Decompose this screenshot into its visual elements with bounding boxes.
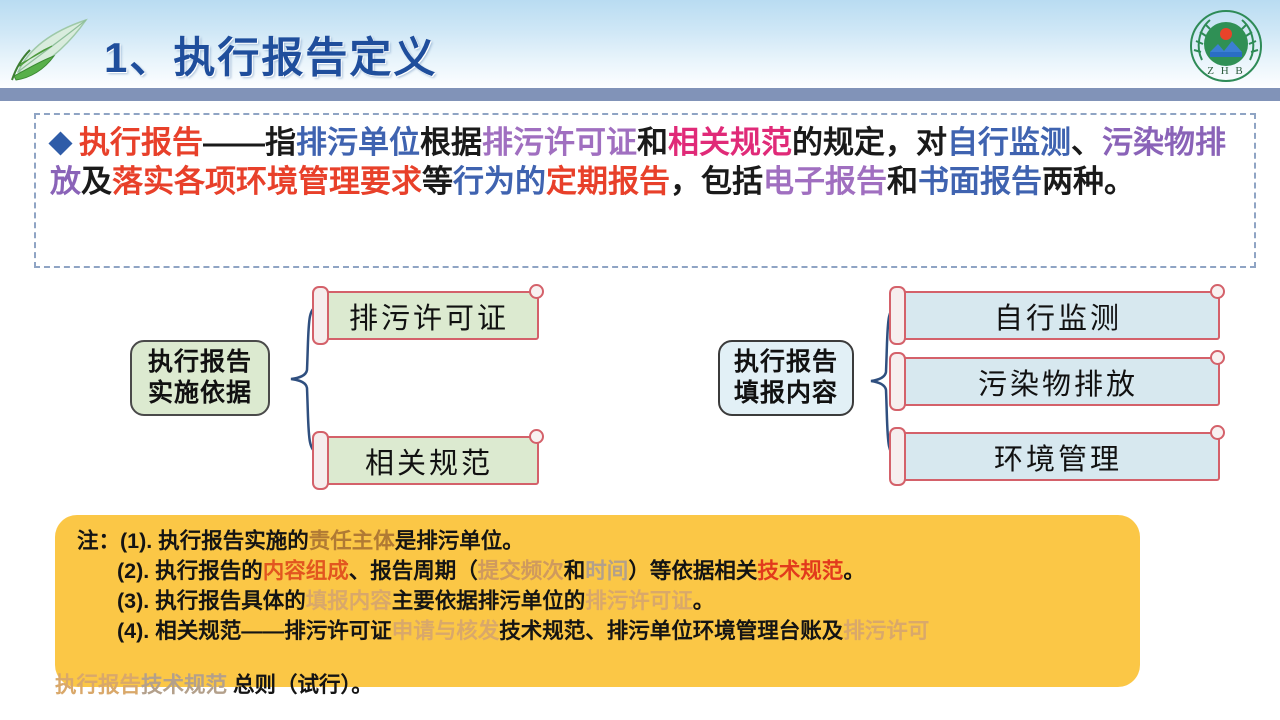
diagram-right-branch-1: 污染物排放: [896, 357, 1220, 406]
note-line-2-run-0: (3). 执行报告具体的: [117, 589, 306, 613]
note-line-1-run-1: 内容组成: [263, 559, 349, 583]
definition-run-19: 书面报告: [918, 164, 1042, 199]
note-line-2: (3). 执行报告具体的填报内容主要依据排污单位的排污许可证。: [77, 586, 1126, 616]
diagram-right-root: 执行报告 填报内容: [718, 340, 854, 416]
note-box: 注：(1). 执行报告实施的责任主体是排污单位。(2). 执行报告的内容组成、报…: [55, 515, 1140, 687]
diagram-left-branch-0-label: 排污许可证: [349, 295, 509, 337]
slide: 1、执行报告定义 Z H B 执行报告——指排污单位根据排污许可证和相关规范的规…: [0, 0, 1280, 720]
note-line-1-run-5: 时间: [585, 559, 628, 583]
definition-run-14: 行为的: [453, 164, 546, 199]
diagram-left-branch-1-label: 相关规范: [365, 440, 493, 482]
note-line-3: (4). 相关规范——排污许可证申请与核发技术规范、排污单位环境管理台账及排污许…: [77, 616, 1126, 646]
definition-run-1: ——指: [203, 125, 296, 160]
definition-run-5: 和: [637, 125, 668, 160]
leaf-icon: [8, 10, 104, 82]
note-line-1-run-6: ）等依据相关: [628, 559, 757, 583]
logo-text: Z H B: [1207, 65, 1245, 77]
definition-run-20: 两种。: [1042, 164, 1135, 199]
definition-run-9: 、: [1071, 125, 1102, 160]
note-lines: 注：(1). 执行报告实施的责任主体是排污单位。(2). 执行报告的内容组成、报…: [55, 515, 1140, 646]
diagram-left-root-line1: 执行报告: [148, 347, 252, 378]
zhb-emblem-icon: Z H B: [1188, 8, 1264, 84]
page-title: 1、执行报告定义: [104, 24, 437, 85]
note-line-2-run-4: 。: [693, 589, 715, 613]
note-line-3-run-3: 排污许可: [843, 619, 929, 643]
definition-run-11: 及: [81, 164, 112, 199]
diagram-left-root-line2: 实施依据: [148, 378, 252, 409]
definition-run-7: 的规定，对: [792, 125, 947, 160]
note-line-1-run-7: 技术规范: [757, 559, 843, 583]
definition-run-13: 等: [422, 164, 453, 199]
note-overflow-run-1: 技术规范: [141, 673, 227, 697]
definition-run-6: 相关规范: [668, 125, 792, 160]
note-line-0-run-2: 是排污单位。: [395, 529, 524, 553]
note-line-0-run-0: 注：(1). 执行报告实施的: [77, 529, 309, 553]
note-line-3-run-2: 技术规范、排污单位环境管理台账及: [499, 619, 843, 643]
note-line-1-run-0: (2). 执行报告的: [117, 559, 263, 583]
note-line-1-run-3: 提交频次: [478, 559, 564, 583]
note-line-3-run-1: 申请与核发: [392, 619, 500, 643]
diagram-left-root: 执行报告 实施依据: [130, 340, 270, 416]
note-overflow-run-2: 总则（试行）。: [227, 673, 373, 697]
diagram-left-branch-0: 排污许可证: [319, 291, 539, 340]
definition-run-12: 落实各项环境管理要求: [112, 164, 422, 199]
note-line-3-run-0: (4). 相关规范——排污许可证: [117, 619, 392, 643]
definition-run-17: 电子报告: [763, 164, 887, 199]
note-line-1-run-4: 和: [564, 559, 586, 583]
note-line-2-run-2: 主要依据排污单位的: [392, 589, 586, 613]
note-overflow-run-0: 执行报告: [55, 673, 141, 697]
diagram-right-branch-0: 自行监测: [896, 291, 1220, 340]
definition-run-8: 自行监测: [947, 125, 1071, 160]
slide-header: 1、执行报告定义 Z H B: [0, 0, 1280, 88]
definition-run-15: 定期报告: [546, 164, 670, 199]
note-line-2-run-3: 排污许可证: [585, 589, 693, 613]
definition-run-16: ，包括: [670, 164, 763, 199]
note-line-2-run-1: 填报内容: [306, 589, 392, 613]
note-line-0: 注：(1). 执行报告实施的责任主体是排污单位。: [77, 526, 1126, 556]
note-line-1: (2). 执行报告的内容组成、报告周期（提交频次和时间）等依据相关技术规范。: [77, 556, 1126, 586]
diagram-right-branch-1-label: 污染物排放: [978, 361, 1138, 403]
diagram-right-branch-2-label: 环境管理: [994, 436, 1122, 478]
diagram-left-branch-1: 相关规范: [319, 436, 539, 485]
definition-box: 执行报告——指排污单位根据排污许可证和相关规范的规定，对自行监测、污染物排放及落…: [34, 113, 1256, 268]
definition-run-3: 根据: [420, 125, 482, 160]
header-divider: [0, 88, 1280, 101]
note-line-1-run-2: 、报告周期（: [349, 559, 478, 583]
note-overflow-line: 执行报告技术规范 总则（试行）。: [55, 670, 755, 700]
diagram-right-branch-2: 环境管理: [896, 432, 1220, 481]
diagram-right-root-line2: 填报内容: [734, 378, 838, 409]
diagram-right-root-line1: 执行报告: [734, 347, 838, 378]
note-line-0-run-1: 责任主体: [309, 529, 395, 553]
definition-text: 执行报告——指排污单位根据排污许可证和相关规范的规定，对自行监测、污染物排放及落…: [36, 115, 1254, 201]
diagram-right-branch-0-label: 自行监测: [994, 295, 1122, 337]
diamond-bullet-icon: [48, 131, 72, 155]
definition-run-0: 执行报告: [79, 125, 203, 160]
definition-run-18: 和: [887, 164, 918, 199]
definition-run-4: 排污许可证: [482, 125, 637, 160]
definition-run-2: 排污单位: [296, 125, 420, 160]
note-line-1-run-8: 。: [843, 559, 865, 583]
